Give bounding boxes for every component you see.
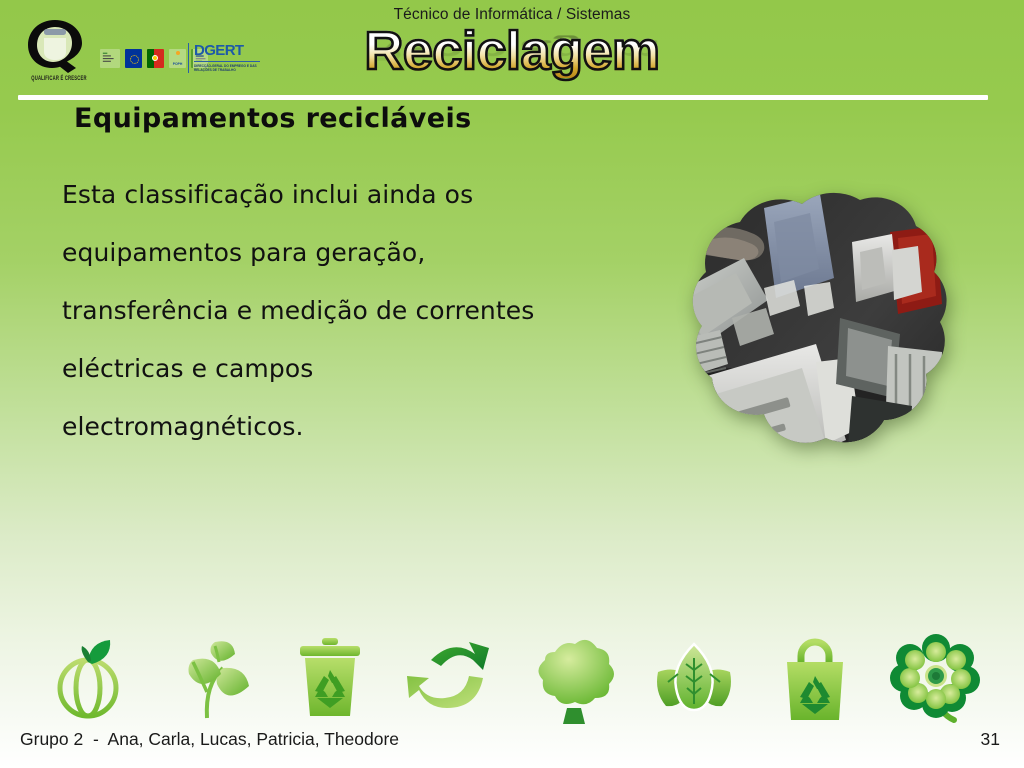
three-leaves-icon <box>648 632 740 724</box>
dgert-logo: DGERT DIRECÇÃO-GERAL DO EMPREGO E DAS RE… <box>188 43 260 73</box>
body-paragraph: Esta classificação inclui ainda os equip… <box>62 166 662 456</box>
partner-logo-0 <box>100 49 120 68</box>
ewaste-photo-svg <box>644 168 962 542</box>
logo-caption: QUALIFICAR É CRESCER <box>18 74 100 82</box>
recycle-bag-icon <box>769 632 861 724</box>
footer-credits: Grupo 2 - Ana, Carla, Lucas, Patricia, T… <box>20 729 399 750</box>
body-line-1: equipamentos para geração, <box>62 224 662 282</box>
institution-logo-block: QUALIFICAR É CRESCER POPH <box>18 18 258 86</box>
tree-icon <box>527 632 619 724</box>
partner-logo-2 <box>147 49 164 68</box>
sprout-leaves-icon <box>163 632 255 724</box>
po-bars-icon <box>101 50 119 67</box>
course-label: Técnico de Informática / Sistemas <box>0 6 1024 24</box>
ewaste-photo <box>644 168 962 542</box>
page-number: 31 <box>981 729 1000 750</box>
dgert-name: DGERT <box>194 43 260 58</box>
body-line-3: eléctricas e campos <box>62 340 662 398</box>
body-line-2: transferência e medição de correntes <box>62 282 662 340</box>
dgert-subtitle: DIRECÇÃO-GERAL DO EMPREGO E DAS RELAÇÕES… <box>194 61 260 73</box>
page-title: Reciclagem <box>364 24 659 78</box>
globe-leaf-icon <box>42 632 134 724</box>
recycle-arrows-icon <box>405 632 497 724</box>
eco-icon-row <box>42 628 982 724</box>
partner-logo-3: POPH <box>169 49 186 68</box>
flower-clover-icon <box>890 632 982 724</box>
section-heading: Equipamentos recicláveis <box>74 103 472 134</box>
slide-canvas: QUALIFICAR É CRESCER POPH <box>0 0 1024 768</box>
body-line-0: Esta classificação inclui ainda os <box>62 166 662 224</box>
body-line-4: electromagnéticos. <box>62 398 662 456</box>
header-divider <box>18 95 988 100</box>
recycle-bin-icon <box>284 632 376 724</box>
partner-logo-1 <box>125 49 142 68</box>
ewaste-photo-content <box>644 168 962 542</box>
q-logo-icon <box>24 18 86 74</box>
